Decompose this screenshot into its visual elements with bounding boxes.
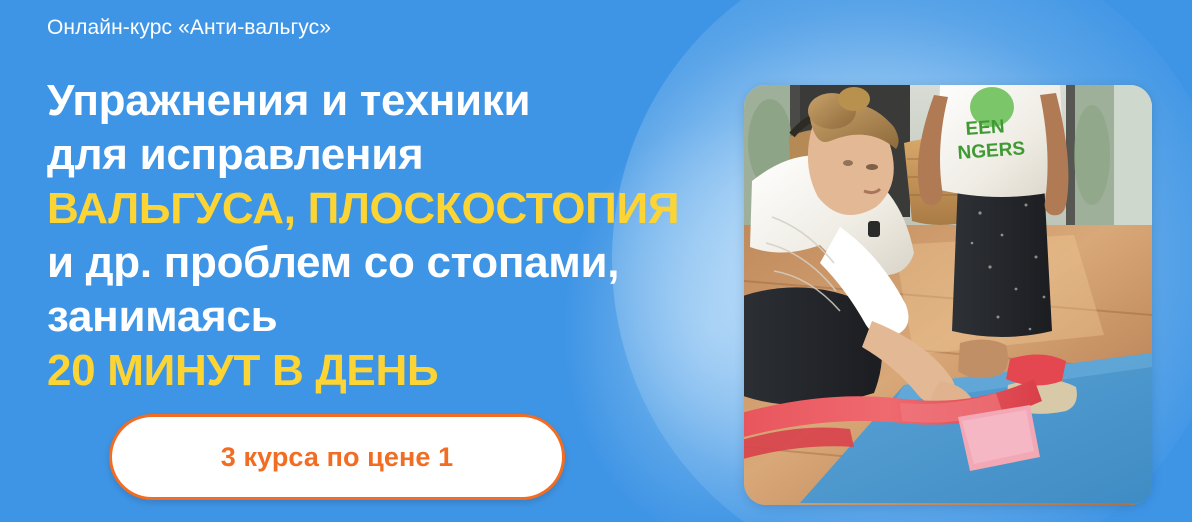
- course-photo-illustration: EEN NGERS: [744, 85, 1152, 505]
- svg-text:EEN: EEN: [965, 116, 1005, 140]
- headline-line-3: ВАЛЬГУСА, ПЛОСКОСТОПИЯ: [47, 182, 737, 236]
- headline-line-4: и др. проблем со стопами,: [47, 236, 737, 290]
- headline-line-5: занимаясь: [47, 290, 737, 344]
- cta-label: 3 курса по цене 1: [221, 442, 454, 473]
- promo-banner: Онлайн-курс «Анти-вальгус» Упражнения и …: [0, 0, 1192, 522]
- course-photo: EEN NGERS: [744, 85, 1152, 505]
- text-column: Онлайн-курс «Анти-вальгус» Упражнения и …: [47, 0, 747, 522]
- headline-line-2: для исправления: [47, 128, 737, 182]
- headline-line-6: 20 МИНУТ В ДЕНЬ: [47, 344, 737, 398]
- page-title: Упражнения и техники для исправления ВАЛ…: [47, 74, 737, 398]
- three-courses-cta-button[interactable]: 3 курса по цене 1: [109, 414, 565, 500]
- course-kicker: Онлайн-курс «Анти-вальгус»: [47, 16, 331, 40]
- headline-line-1: Упражнения и техники: [47, 74, 737, 128]
